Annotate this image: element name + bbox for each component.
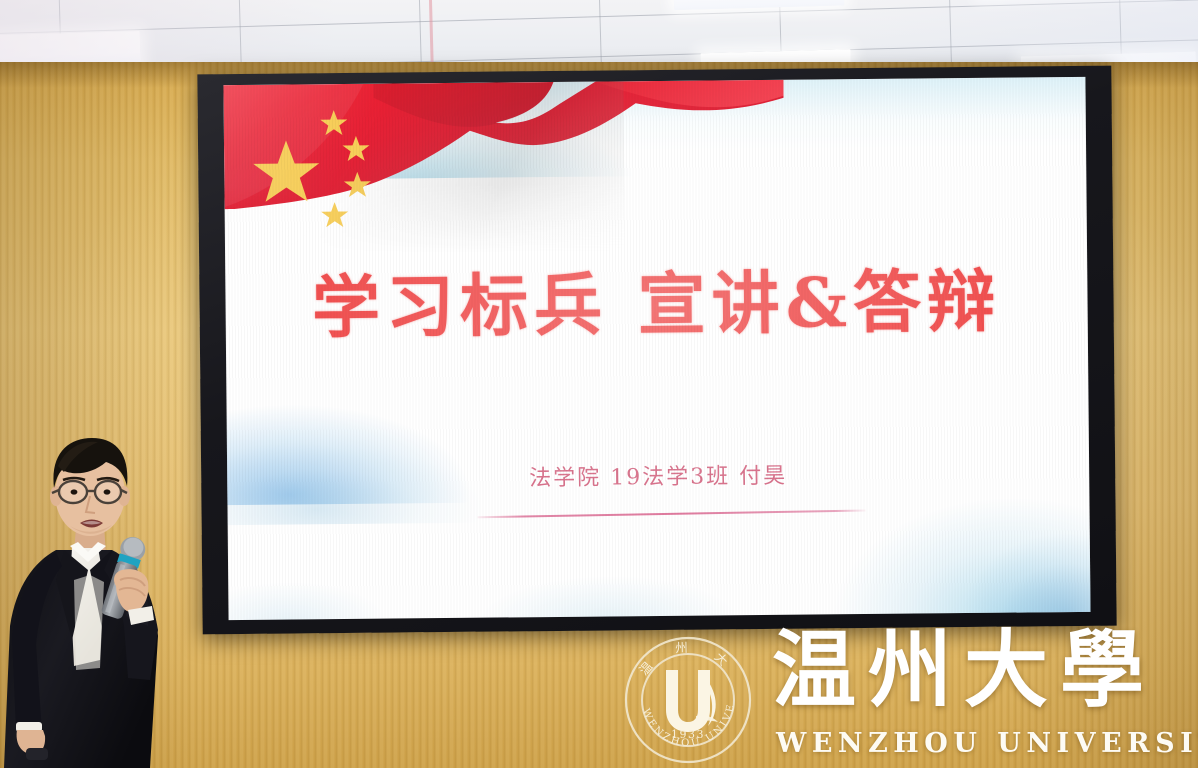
student-presenter xyxy=(0,430,240,768)
svg-text:温 州 大 學: 温 州 大 學 xyxy=(622,634,746,690)
wenzhou-university-seal: 温 州 大 學 WENZHOU UNIVERSITY 1933 xyxy=(622,634,754,766)
svg-text:1933: 1933 xyxy=(671,728,705,741)
slide-divider-rule xyxy=(478,509,866,518)
slide-title: 学习标兵 宣讲&答辩 xyxy=(225,245,1088,352)
ink-wash-mountain-watermark xyxy=(917,492,1090,619)
ink-wash-mountain-watermark xyxy=(228,561,429,620)
university-branding: 温 州 大 學 WENZHOU UNIVERSITY 1933 温州大學 WEN… xyxy=(612,624,1198,768)
slide-subtitle: 法学院 19法学3班 付昊 xyxy=(227,455,1089,495)
university-name-en: WENZHOU UNIVERSITY xyxy=(776,728,1198,759)
university-name-cn: 温州大學 xyxy=(772,626,1156,714)
presentation-scene: 学习标兵 宣讲&答辩 法学院 19法学3班 付昊 xyxy=(0,0,1198,768)
projected-slide: 学习标兵 宣讲&答辩 法学院 19法学3班 付昊 xyxy=(223,77,1090,620)
projection-screen[interactable]: 学习标兵 宣讲&答辩 法学院 19法学3班 付昊 xyxy=(197,66,1116,635)
ink-wash-mountain-watermark xyxy=(458,550,759,620)
